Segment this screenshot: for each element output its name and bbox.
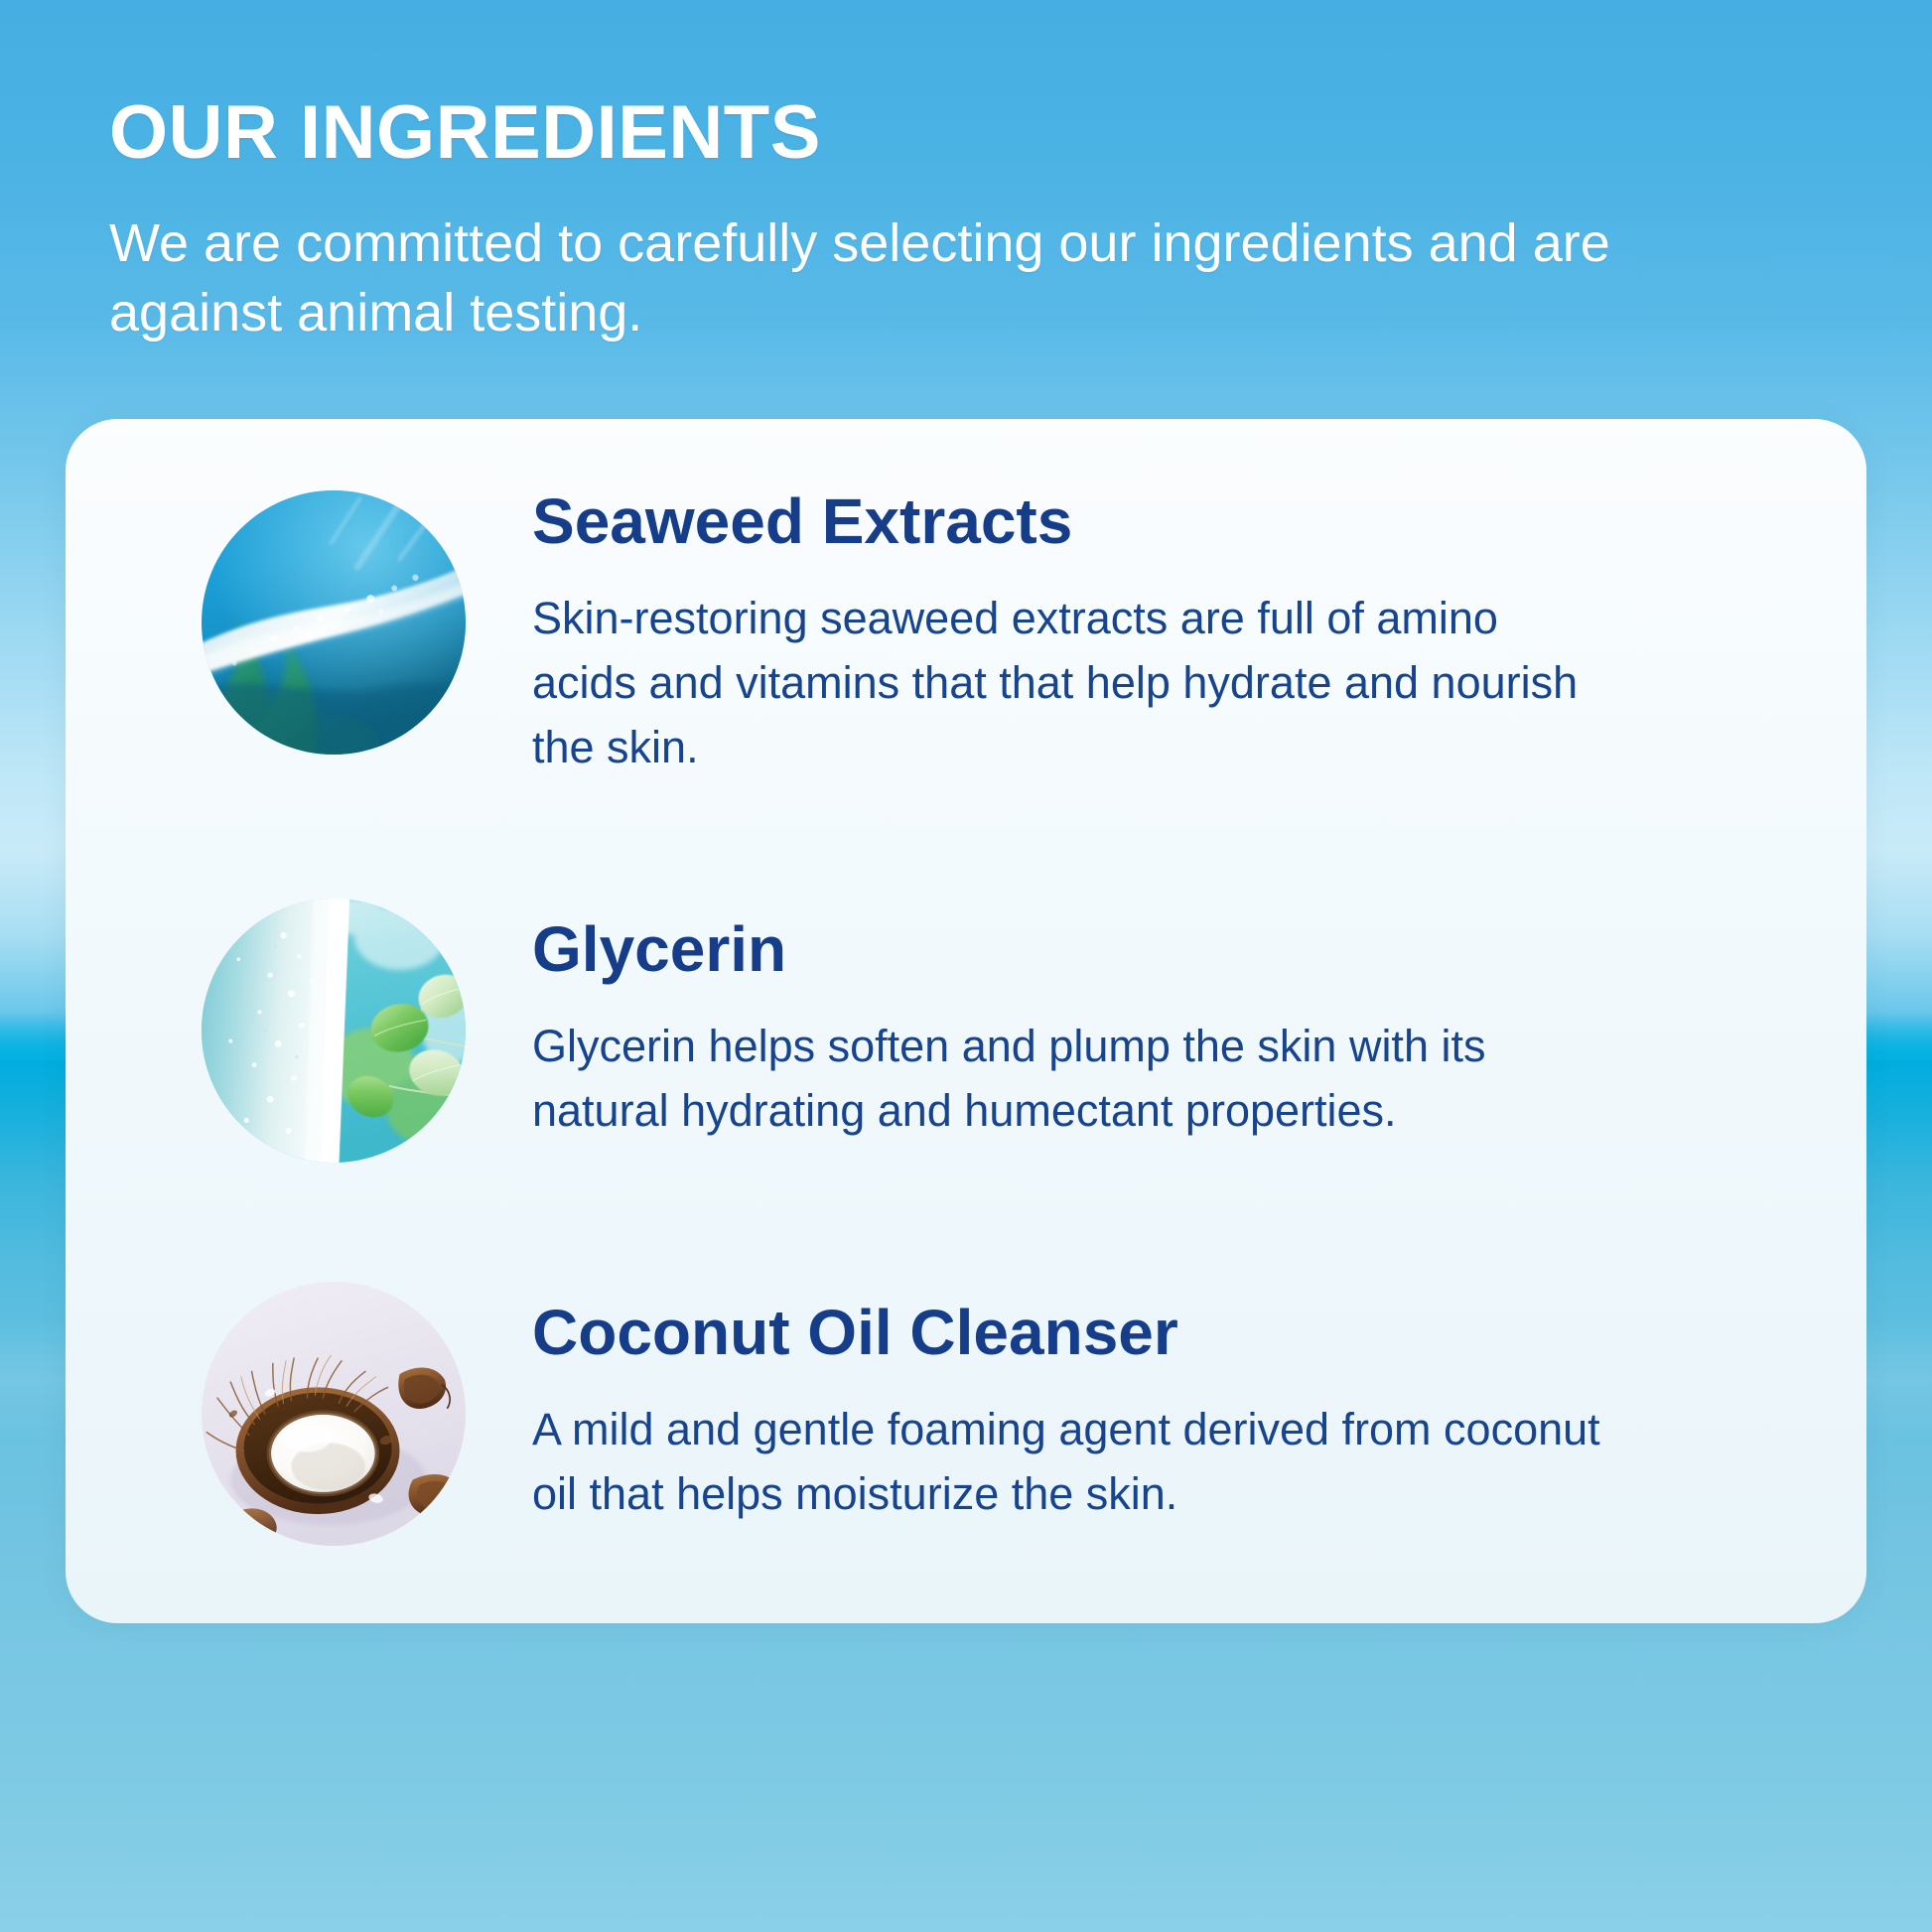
ingredient-description: A mild and gentle foaming agent derived … (532, 1397, 1604, 1527)
ingredient-title: Glycerin (532, 916, 1757, 983)
seaweed-underwater-wave-photo (202, 490, 466, 755)
ingredient-description: Skin-restoring seaweed extracts are full… (532, 586, 1604, 780)
ingredient-thumb-wrap (135, 1274, 532, 1546)
ingredients-card: Seaweed Extracts Skin-restoring seaweed … (66, 419, 1866, 1623)
ingredient-thumb-wrap (135, 483, 532, 755)
ingredient-item: Seaweed Extracts Skin-restoring seaweed … (135, 483, 1797, 779)
ingredient-title: Coconut Oil Cleanser (532, 1300, 1757, 1366)
ingredient-item: Coconut Oil Cleanser A mild and gentle f… (135, 1274, 1797, 1546)
ingredient-body: Seaweed Extracts Skin-restoring seaweed … (532, 483, 1797, 779)
ingredient-body: Coconut Oil Cleanser A mild and gentle f… (532, 1274, 1797, 1526)
ingredient-body: Glycerin Glycerin helps soften and plump… (532, 891, 1797, 1143)
ingredient-title: Seaweed Extracts (532, 488, 1757, 555)
ingredient-item: Glycerin Glycerin helps soften and plump… (135, 891, 1797, 1163)
ingredients-list: Seaweed Extracts Skin-restoring seaweed … (135, 483, 1797, 1546)
coconut-oil-cracked-coconut-photo (202, 1282, 466, 1546)
glycerin-eucalyptus-gel-photo (202, 898, 466, 1163)
page-subtitle: We are committed to carefully selecting … (109, 208, 1797, 347)
page-title: OUR INGREDIENTS (109, 95, 1823, 171)
ingredient-thumb-wrap (135, 891, 532, 1163)
ingredient-description: Glycerin helps soften and plump the skin… (532, 1014, 1604, 1144)
page-header: OUR INGREDIENTS We are committed to care… (0, 0, 1932, 347)
ingredients-page: OUR INGREDIENTS We are committed to care… (0, 0, 1932, 1623)
